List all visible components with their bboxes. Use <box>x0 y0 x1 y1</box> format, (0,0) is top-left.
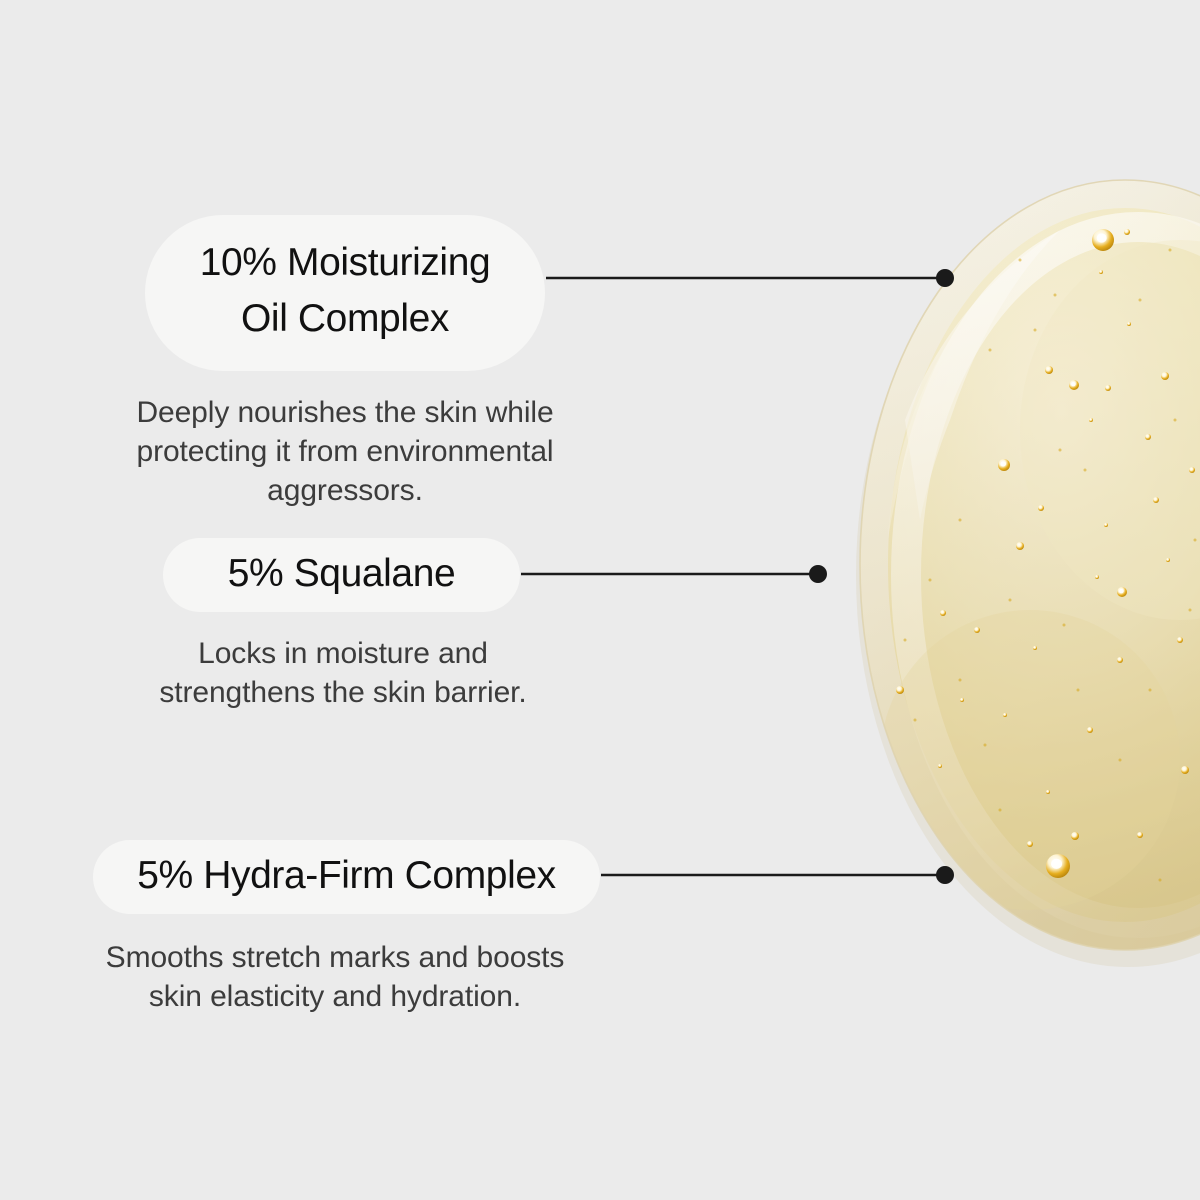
leader-endpoint-dot-3 <box>936 866 954 884</box>
oil-speck <box>914 719 917 722</box>
oil-speck <box>1149 689 1152 692</box>
oil-bubble-highlight <box>1097 233 1107 242</box>
oil-bubble-highlight <box>1051 859 1062 869</box>
oil-bubble <box>896 686 904 694</box>
oil-bubble-highlight <box>1001 461 1007 466</box>
ingredient-pill-3[interactable]: 5% Hydra-Firm Complex <box>93 840 600 914</box>
oil-bubble <box>960 698 964 702</box>
oil-speck <box>1174 419 1177 422</box>
oil-bubble <box>1117 657 1123 663</box>
oil-speck <box>1084 469 1087 472</box>
oil-bubble <box>1027 841 1033 847</box>
oil-speck <box>1054 294 1057 297</box>
oil-speck <box>1034 329 1037 332</box>
callout-moisturizing-oil-complex: 10% Moisturizing Oil Complex Deeply nour… <box>0 215 700 510</box>
oil-speck <box>1189 609 1192 612</box>
leader-endpoint-dot-1 <box>936 269 954 287</box>
oil-bubble <box>1117 587 1127 597</box>
oil-bubbles <box>896 229 1195 878</box>
oil-bubble <box>1046 790 1050 794</box>
oil-speck <box>929 579 932 582</box>
oil-bubble <box>1181 766 1189 774</box>
oil-bubble <box>1124 229 1130 235</box>
oil-speck <box>1009 599 1012 602</box>
oil-bubble <box>1145 434 1151 440</box>
oil-bubble <box>1177 637 1183 643</box>
oil-speck <box>999 809 1002 812</box>
product-ingredient-infographic: 10% Moisturizing Oil Complex Deeply nour… <box>0 0 1200 1200</box>
oil-bubble <box>1105 385 1111 391</box>
oil-bubble <box>1003 713 1007 717</box>
oil-speck <box>1139 299 1142 302</box>
oil-bubble <box>1016 542 1024 550</box>
oil-bubble <box>1153 497 1159 503</box>
oil-bubble <box>1099 270 1103 274</box>
ingredient-pill-2[interactable]: 5% Squalane <box>163 538 520 612</box>
oil-bubble <box>1189 467 1195 473</box>
oil-bubble <box>1087 727 1093 733</box>
oil-bubble <box>1033 646 1037 650</box>
oil-bubble <box>1069 380 1079 390</box>
oil-speck <box>1194 539 1197 542</box>
oil-speck <box>1119 759 1122 762</box>
callout-hydra-firm-complex: 5% Hydra-Firm Complex Smooths stretch ma… <box>0 840 700 1016</box>
oil-bubble <box>938 764 942 768</box>
oil-bubble-highlight <box>1071 382 1076 386</box>
ingredient-title-line1: 10% Moisturizing <box>145 235 545 291</box>
oil-specks <box>904 249 1197 882</box>
ingredient-title-line1: 5% Hydra-Firm Complex <box>93 854 600 898</box>
oil-speck <box>984 744 987 747</box>
oil-bubble <box>974 627 980 633</box>
oil-bubble <box>1071 832 1079 840</box>
oil-bubble <box>1092 229 1114 251</box>
oil-bubble <box>1137 832 1143 838</box>
oil-bubble <box>1045 366 1053 374</box>
oil-bubble <box>998 459 1010 471</box>
ingredient-description-1: Deeply nourishes the skin while protecti… <box>130 393 560 510</box>
oil-bubble <box>1089 418 1093 422</box>
leader-endpoint-dot-2 <box>809 565 827 583</box>
oil-bubble <box>1046 854 1070 878</box>
ingredient-pill-1[interactable]: 10% Moisturizing Oil Complex <box>145 215 545 371</box>
oil-speck <box>959 519 962 522</box>
oil-speck <box>1019 259 1022 262</box>
ingredient-title-line1: 5% Squalane <box>163 552 520 596</box>
oil-bubble <box>1104 523 1108 527</box>
ingredient-title-line2: Oil Complex <box>145 291 545 347</box>
oil-bubble <box>1166 558 1170 562</box>
oil-speck <box>1169 249 1172 252</box>
oil-bubble <box>1038 505 1044 511</box>
oil-speck <box>959 679 962 682</box>
oil-speck <box>1059 449 1062 452</box>
oil-bubble <box>1095 575 1099 579</box>
oil-speck <box>989 349 992 352</box>
callout-squalane: 5% Squalane Locks in moisture and streng… <box>0 538 700 712</box>
ingredient-description-2: Locks in moisture and strengthens the sk… <box>128 634 558 712</box>
ingredient-description-3: Smooths stretch marks and boosts skin el… <box>85 938 585 1016</box>
oil-bubble <box>1127 322 1131 326</box>
oil-speck <box>904 639 907 642</box>
oil-bubble <box>1161 372 1169 380</box>
oil-speck <box>1063 624 1066 627</box>
oil-bubble-highlight <box>1119 589 1124 593</box>
oil-speck <box>1077 689 1080 692</box>
oil-bubble <box>940 610 946 616</box>
oil-speck <box>1159 879 1162 882</box>
